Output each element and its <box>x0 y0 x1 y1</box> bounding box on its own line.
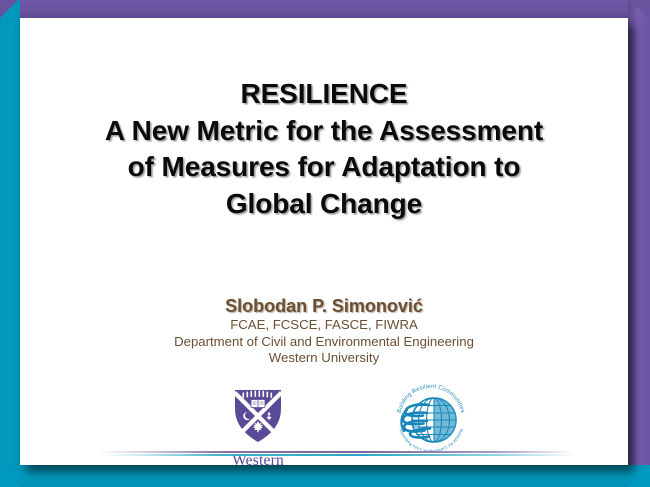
author-institution: Western University <box>28 350 620 367</box>
frame-corner-top-left <box>0 0 18 18</box>
frame-band-top <box>0 0 650 18</box>
slide-content-area: RESILIENCE A New Metric for the Assessme… <box>20 18 628 465</box>
author-name: Slobodan P. Simonović <box>28 295 620 317</box>
frame-corner-top-right <box>628 0 650 18</box>
title-line-1: RESILIENCE <box>28 76 620 113</box>
slide-title: RESILIENCE A New Metric for the Assessme… <box>28 76 620 222</box>
author-department: Department of Civil and Environmental En… <box>28 334 620 351</box>
frame-corner-bottom-right <box>628 465 650 487</box>
frame-band-bottom <box>0 465 650 487</box>
institute-globe-logo: Building Resilient Communities Institute… <box>392 380 470 458</box>
author-credentials: FCAE, FCSCE, FASCE, FIWRA <box>28 317 620 334</box>
presentation-slide: RESILIENCE A New Metric for the Assessme… <box>0 0 650 487</box>
globe-in-hands-icon: Building Resilient Communities Institute… <box>392 380 470 458</box>
western-shield-crest-icon <box>220 383 296 451</box>
decorative-divider <box>96 450 576 460</box>
divider-line-teal <box>96 454 576 456</box>
title-line-2: A New Metric for the Assessment <box>28 113 620 150</box>
logo-row: Western UNIVERSITY · CANADA Building Res… <box>20 380 628 456</box>
author-block: Slobodan P. Simonović FCAE, FCSCE, FASCE… <box>28 295 620 367</box>
frame-band-left <box>0 0 20 487</box>
frame-band-right <box>628 0 650 487</box>
western-university-logo: Western UNIVERSITY · CANADA <box>220 383 296 451</box>
title-line-4: Global Change <box>28 186 620 223</box>
divider-line-purple <box>96 451 576 453</box>
title-line-3: of Measures for Adaptation to <box>28 149 620 186</box>
frame-corner-bottom-left <box>0 465 20 487</box>
